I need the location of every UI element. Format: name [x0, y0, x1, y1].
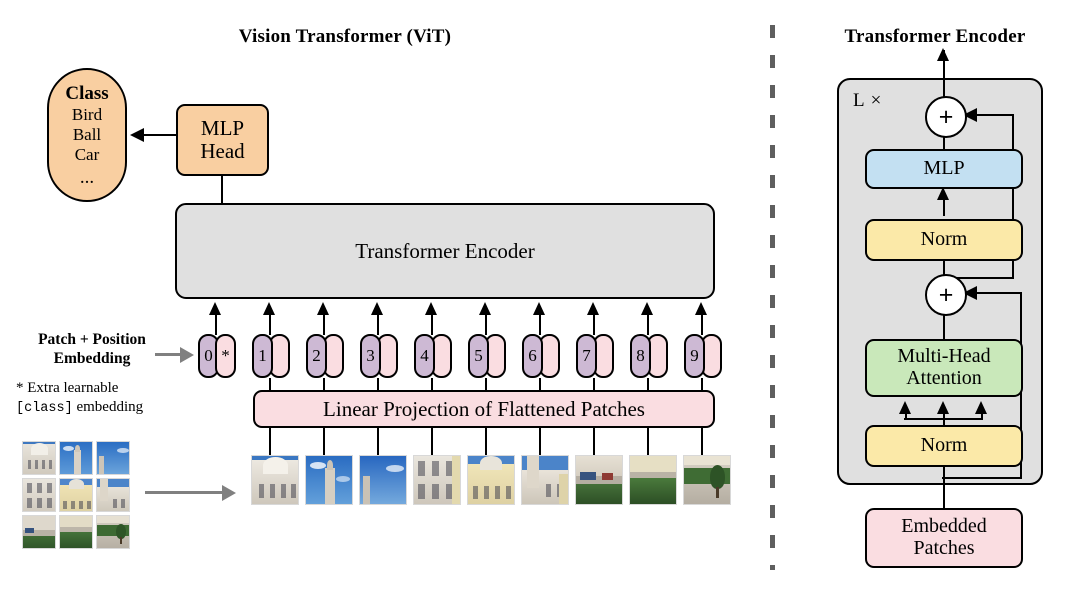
page-title-right: Transformer Encoder: [800, 26, 1070, 48]
embedded-patches-block: Embedded Patches: [865, 508, 1023, 568]
norm-block-bottom: Norm: [865, 425, 1023, 467]
token-1-position: 1: [252, 334, 273, 378]
token-3-position: 3: [360, 334, 381, 378]
pp-label-line1: Patch + Position: [6, 331, 178, 350]
source-patch-3: [22, 478, 56, 512]
encoder-output-arrowhead: [937, 48, 949, 61]
token-9-position: 9: [684, 334, 705, 378]
source-patch-7: [59, 515, 93, 549]
seq-patch-9: [683, 455, 731, 505]
mlp-to-class-line: [143, 134, 177, 136]
token-6-position: 6: [522, 334, 543, 378]
residual-add-top: +: [925, 96, 967, 138]
footnote-line-1: * Extra learnable: [16, 379, 186, 398]
source-image-grid: [22, 441, 130, 551]
seq-patch-5: [467, 455, 515, 505]
class-ellipsis: ...: [80, 165, 94, 185]
pp-label-arrowhead: [180, 347, 194, 363]
embedded-to-norm-line: [943, 467, 945, 510]
seq-patch-2: [305, 455, 353, 505]
mlp-head-to-encoder-line: [221, 176, 223, 205]
class-output-box: Class Bird Ball Car ...: [47, 68, 127, 202]
token-4-position: 4: [414, 334, 435, 378]
grid-to-strip-line: [145, 491, 223, 494]
residual-bottom-horizontal: [975, 292, 1022, 294]
pp-label-arrow-line: [155, 353, 181, 356]
token-5-position: 5: [468, 334, 489, 378]
seq-patch-3: [359, 455, 407, 505]
add-to-mha-line: [943, 312, 945, 340]
panel-divider: [770, 25, 775, 570]
class-item-1: Ball: [73, 125, 101, 145]
repeat-count-label: L ×: [853, 90, 882, 112]
footnote-embedding-word: embedding: [73, 399, 143, 415]
token-7-position: 7: [576, 334, 597, 378]
mlp-head-box: MLP Head: [176, 104, 269, 176]
class-token-code: [class]: [16, 401, 73, 416]
residual-bottom-tap: [942, 477, 1022, 479]
grid-to-strip-arrowhead: [222, 485, 236, 501]
vit-figure: Vision Transformer (ViT) Transformer Enc…: [0, 0, 1080, 593]
class-item-2: Car: [75, 145, 100, 165]
mlp-block: MLP: [865, 149, 1023, 189]
mlp-to-class-arrowhead: [130, 128, 144, 142]
seq-patch-7: [575, 455, 623, 505]
norm-to-mlp-arrowhead: [937, 187, 949, 200]
source-patch-2: [96, 441, 130, 475]
source-patch-0: [22, 441, 56, 475]
footnote-line-2: [class] embedding: [16, 398, 186, 417]
transformer-encoder-box: Transformer Encoder: [175, 203, 715, 299]
seq-patch-4: [413, 455, 461, 505]
residual-top-horizontal: [975, 114, 1014, 116]
linear-projection-box: Linear Projection of Flattened Patches: [253, 390, 715, 428]
source-patch-5: [96, 478, 130, 512]
source-patch-8: [96, 515, 130, 549]
residual-add-bottom: +: [925, 274, 967, 316]
token-8-position: 8: [630, 334, 651, 378]
patch-sequence-strip: [245, 455, 735, 507]
class-item-0: Bird: [72, 105, 102, 125]
source-patch-1: [59, 441, 93, 475]
extra-learnable-footnote: * Extra learnable [class] embedding: [16, 379, 186, 417]
class-heading: Class: [65, 83, 108, 105]
patch-position-embedding-label: Patch + Position Embedding: [6, 331, 178, 368]
norm-block-top: Norm: [865, 219, 1023, 261]
token-2-position: 2: [306, 334, 327, 378]
seq-patch-6: [521, 455, 569, 505]
source-patch-6: [22, 515, 56, 549]
source-patch-4: [59, 478, 93, 512]
pp-label-line2: Embedding: [6, 350, 178, 369]
seq-patch-8: [629, 455, 677, 505]
page-title-left: Vision Transformer (ViT): [120, 26, 570, 48]
seq-patch-1: [251, 455, 299, 505]
token-0-class-star: *: [215, 334, 236, 378]
multi-head-attention-block: Multi-Head Attention: [865, 339, 1023, 397]
